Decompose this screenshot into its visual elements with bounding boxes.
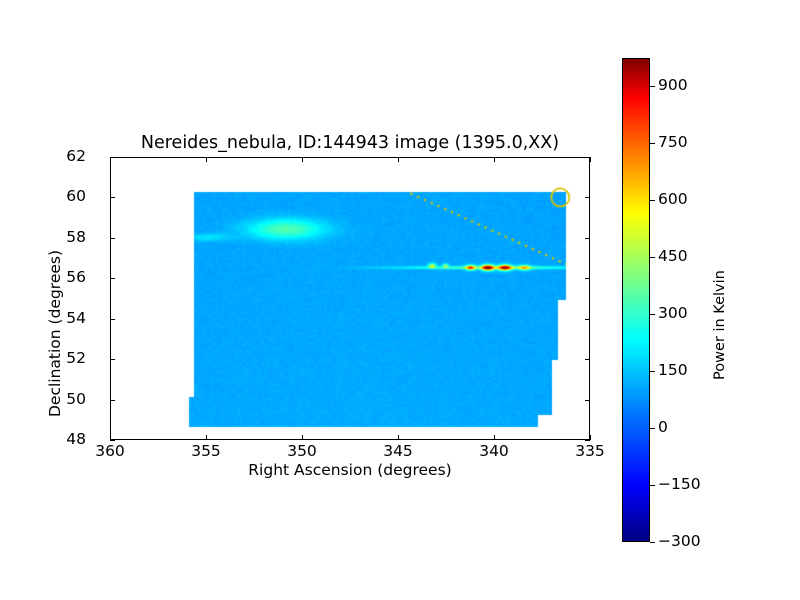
y-tick bbox=[110, 400, 115, 401]
colorbar-tick bbox=[650, 86, 655, 87]
y-tick-right bbox=[585, 238, 590, 239]
x-tick-top bbox=[494, 157, 495, 162]
y-tick-right bbox=[585, 400, 590, 401]
x-tick-top bbox=[398, 157, 399, 162]
y-axis-label: Declination (degrees) bbox=[46, 250, 64, 417]
y-tick bbox=[110, 359, 115, 360]
colorbar-tick bbox=[650, 428, 655, 429]
y-tick-right bbox=[585, 197, 590, 198]
y-tick-label: 56 bbox=[66, 270, 86, 286]
y-tick-label: 58 bbox=[66, 230, 86, 246]
colorbar-tick-label: 450 bbox=[658, 249, 688, 265]
y-tick-right bbox=[585, 278, 590, 279]
y-tick-label: 52 bbox=[66, 351, 86, 367]
x-tick bbox=[302, 435, 303, 440]
colorbar[interactable]: 9007506004503001500−150−300 bbox=[622, 58, 650, 542]
colorbar-gradient bbox=[622, 58, 650, 542]
x-tick-label: 335 bbox=[560, 444, 620, 460]
y-tick-right bbox=[585, 440, 590, 441]
plot-axes[interactable] bbox=[110, 157, 590, 440]
colorbar-tick-label: 300 bbox=[658, 306, 688, 322]
y-tick-right bbox=[585, 319, 590, 320]
x-tick-label: 355 bbox=[176, 444, 236, 460]
y-tick-label: 54 bbox=[66, 311, 86, 327]
colorbar-tick bbox=[650, 143, 655, 144]
colorbar-tick bbox=[650, 542, 655, 543]
x-tick bbox=[398, 435, 399, 440]
colorbar-tick-label: 600 bbox=[658, 192, 688, 208]
y-tick bbox=[110, 440, 115, 441]
colorbar-tick-label: −300 bbox=[658, 534, 701, 550]
y-tick bbox=[110, 197, 115, 198]
y-tick-label: 50 bbox=[66, 392, 86, 408]
colorbar-tick-label: 750 bbox=[658, 135, 688, 151]
colorbar-label: Power in Kelvin bbox=[712, 270, 728, 380]
x-tick-label: 345 bbox=[368, 444, 428, 460]
y-tick-right bbox=[585, 359, 590, 360]
x-axis-label: Right Ascension (degrees) bbox=[110, 461, 590, 479]
x-tick-top bbox=[110, 157, 111, 162]
colorbar-tick-label: 150 bbox=[658, 363, 688, 379]
colorbar-tick bbox=[650, 371, 655, 372]
colorbar-tick bbox=[650, 314, 655, 315]
x-tick bbox=[206, 435, 207, 440]
x-tick-top bbox=[590, 157, 591, 162]
y-tick bbox=[110, 319, 115, 320]
y-tick bbox=[110, 278, 115, 279]
x-tick-label: 340 bbox=[464, 444, 524, 460]
y-tick bbox=[110, 238, 115, 239]
colorbar-tick bbox=[650, 257, 655, 258]
page-title: Nereides_nebula, ID:144943 image (1395.0… bbox=[110, 133, 590, 153]
colorbar-tick-label: 900 bbox=[658, 78, 688, 94]
colorbar-tick-label: −150 bbox=[658, 477, 701, 493]
y-tick-label: 62 bbox=[66, 149, 86, 165]
x-tick-label: 360 bbox=[80, 444, 140, 460]
colorbar-tick bbox=[650, 200, 655, 201]
x-tick bbox=[110, 435, 111, 440]
x-tick-top bbox=[302, 157, 303, 162]
sky-image-heatmap bbox=[111, 158, 590, 440]
x-tick-top bbox=[206, 157, 207, 162]
y-tick-label: 60 bbox=[66, 189, 86, 205]
x-tick-label: 350 bbox=[272, 444, 332, 460]
figure-canvas: Nereides_nebula, ID:144943 image (1395.0… bbox=[0, 0, 800, 600]
colorbar-tick bbox=[650, 485, 655, 486]
x-tick bbox=[590, 435, 591, 440]
x-tick bbox=[494, 435, 495, 440]
colorbar-tick-label: 0 bbox=[658, 420, 668, 436]
